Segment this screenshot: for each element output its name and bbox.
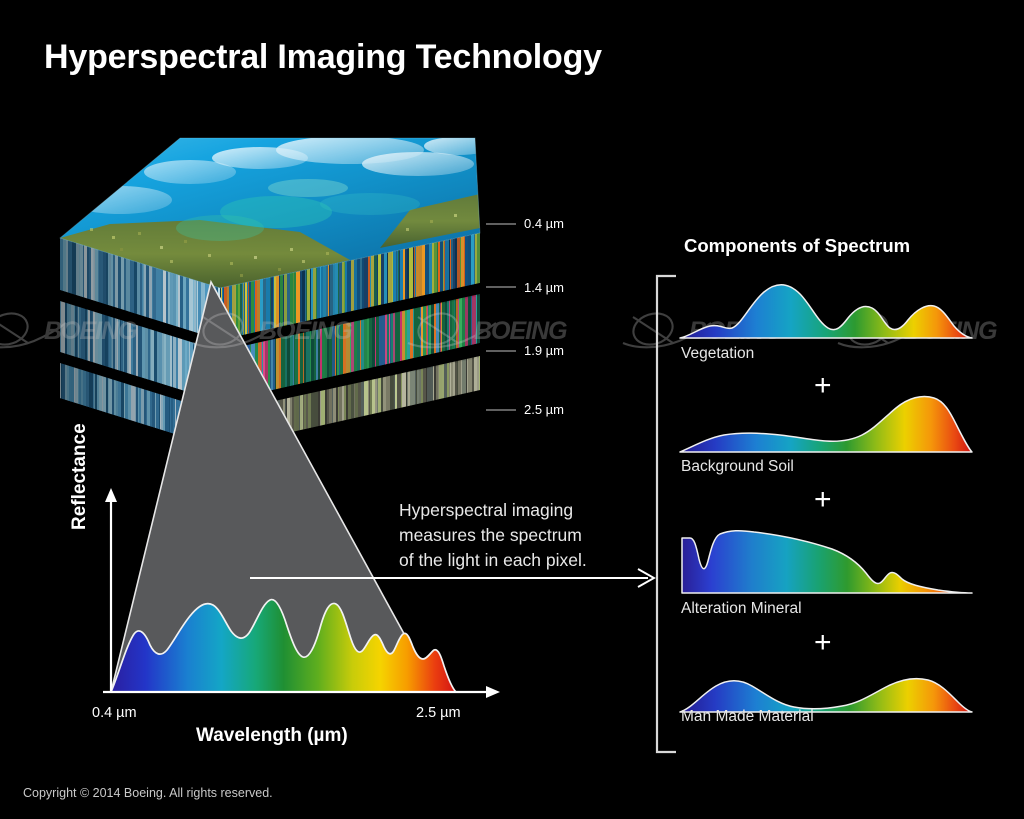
component-label-background-soil: Background Soil (681, 458, 794, 476)
copyright-notice: Copyright © 2014 Boeing. All rights rese… (23, 786, 273, 800)
hyperspectral-data-cube (50, 128, 530, 488)
component-curve-alteration-mineral (676, 525, 976, 597)
chart-x-tick-end: 2.5 µm (416, 705, 461, 721)
callout-line-2: measures the spectrum (399, 523, 649, 548)
components-panel-title: Components of Spectrum (684, 235, 910, 257)
wavelength-label-0: 0.4 µm (524, 216, 564, 231)
chart-x-axis-label: Wavelength (µm) (196, 725, 348, 747)
callout-line-1: Hyperspectral imaging (399, 498, 649, 523)
component-label-man-made-material: Man Made Material (681, 708, 814, 726)
poster-canvas: 0.4 µm 1.4 µm 1.9 µm 2.5 µm (0, 0, 1024, 819)
plus-symbol-3: + (814, 628, 832, 658)
plus-symbol-1: + (814, 371, 832, 401)
wavelength-label-1: 1.4 µm (524, 280, 564, 295)
component-label-alteration-mineral: Alteration Mineral (681, 600, 802, 618)
chart-y-axis-label: Reflectance (69, 423, 91, 530)
component-label-vegetation: Vegetation (681, 345, 754, 363)
plus-symbol-2: + (814, 485, 832, 515)
callout-text: Hyperspectral imaging measures the spect… (399, 498, 649, 573)
flow-arrow (250, 566, 665, 592)
component-curve-vegetation (676, 276, 976, 342)
wavelength-label-2: 1.9 µm (524, 343, 564, 358)
spectrum-curve (111, 600, 456, 692)
page-title: Hyperspectral Imaging Technology (44, 38, 602, 77)
wavelength-label-3: 2.5 µm (524, 402, 564, 417)
chart-y-axis (105, 488, 117, 692)
chart-x-axis (103, 686, 500, 698)
chart-x-tick-start: 0.4 µm (92, 705, 137, 721)
